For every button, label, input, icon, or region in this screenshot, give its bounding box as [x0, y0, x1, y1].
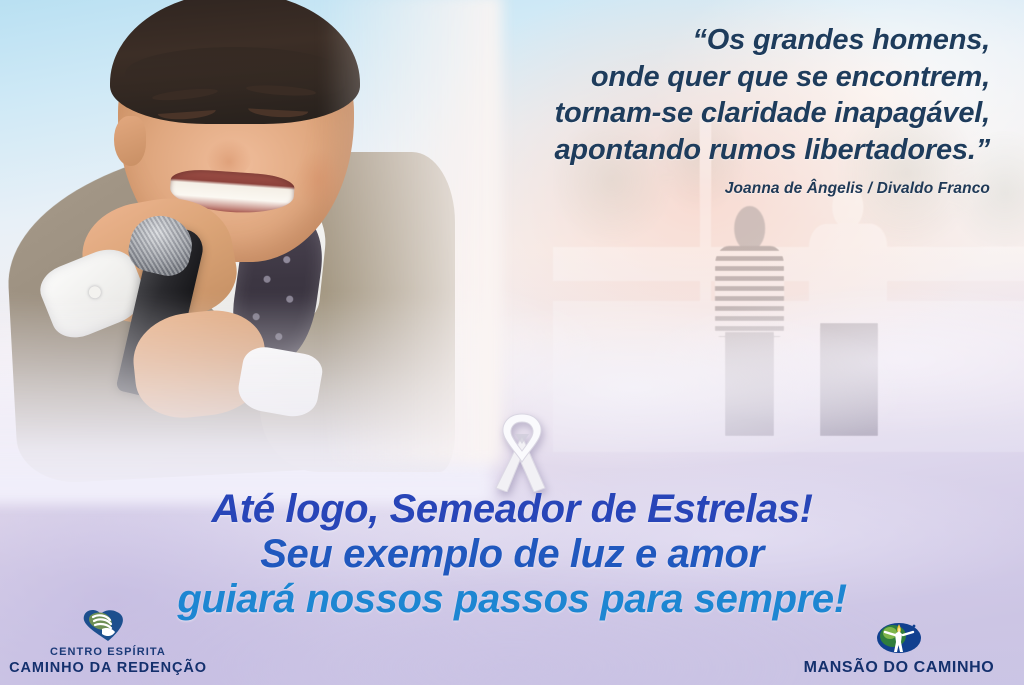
logo-mansao-do-caminho[interactable]: MANSÃO DO CAMINHO	[784, 614, 1014, 677]
nose	[206, 122, 252, 176]
memorial-banner: “Os grandes homens, onde quer que se enc…	[0, 0, 1024, 685]
quote-line-4: apontando rumos libertadores.”	[390, 132, 990, 169]
quote-block: “Os grandes homens, onde quer que se enc…	[390, 22, 990, 198]
figure-legs	[725, 332, 775, 436]
quote-line-3: tornam-se claridade inapagável,	[390, 95, 990, 132]
globe-figure-flame-icon	[873, 614, 925, 656]
logo-left-line-1: CENTRO ESPÍRITA	[8, 646, 208, 660]
figure-torso	[809, 224, 888, 328]
figure-legs	[820, 323, 878, 436]
logo-left-line-2: CAMINHO DA REDENÇÃO	[8, 660, 208, 677]
logo-right-line-1: MANSÃO DO CAMINHO	[784, 659, 1014, 677]
headline-line-1: Até logo, Semeador de Estrelas!	[0, 487, 1024, 532]
figure-head	[734, 206, 766, 251]
headline-line-2: Seu exemplo de luz e amor	[0, 532, 1024, 577]
figure-torso	[715, 246, 784, 336]
background-figure-white-shirt	[809, 185, 888, 432]
background-wall	[553, 247, 1024, 281]
heart-hands-icon	[80, 607, 136, 643]
quote-line-1: “Os grandes homens,	[390, 22, 990, 59]
mourning-ribbon-icon	[487, 410, 557, 492]
quote-line-2: onde quer que se encontrem,	[390, 59, 990, 96]
logo-centro-espirita[interactable]: CENTRO ESPÍRITA CAMINHO DA REDENÇÃO	[8, 607, 208, 677]
background-figure-striped-shirt	[715, 206, 784, 432]
headline-block: Até logo, Semeador de Estrelas! Seu exem…	[0, 487, 1024, 623]
ear	[114, 116, 146, 166]
quote-attribution: Joanna de Ângelis / Divaldo Franco	[390, 180, 990, 198]
